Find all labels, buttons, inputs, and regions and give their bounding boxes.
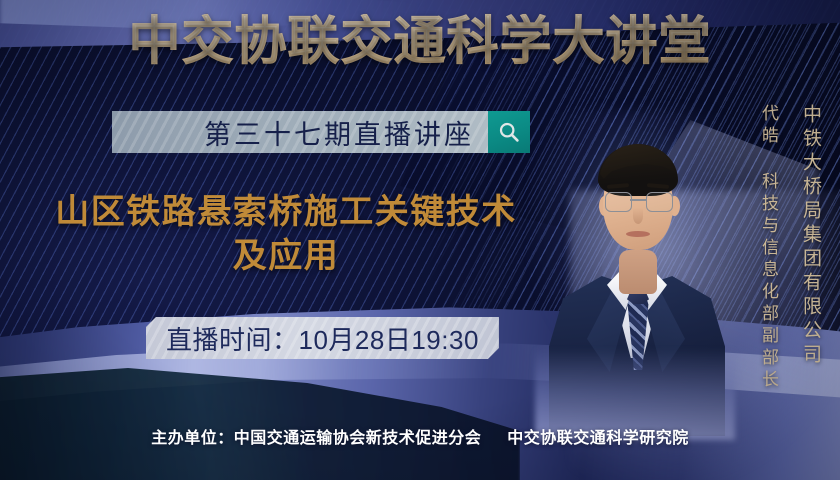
footer-organizer-1: 中国交通运输协会新技术促进分会 [234, 430, 482, 447]
portrait-mouth [626, 231, 650, 237]
headline-line-2: 及应用 [26, 234, 546, 278]
footer-organizer-label: 主办单位： [151, 430, 234, 447]
portrait-neck [619, 250, 657, 294]
episode-banner-body: 第三十七期直播讲座 [112, 111, 488, 153]
portrait-glasses-bridge [630, 199, 646, 201]
footer-organizers: 主办单位：中国交通运输协会新技术促进分会中交协联交通科学研究院 [0, 424, 840, 448]
speaker-info: 代皓 科技与信息化部副部长 中铁大桥局集团有限公司 [756, 104, 824, 392]
speaker-portrait [545, 104, 725, 434]
speaker-organization: 中铁大桥局集团有限公司 [797, 104, 824, 368]
lecture-headline: 山区铁路悬索桥施工关键技术 及应用 [26, 190, 546, 278]
speaker-name-and-role: 代皓 科技与信息化部副部长 [756, 104, 781, 392]
portrait-glasses-left-lens [605, 192, 632, 212]
broadcast-time-text: 直播时间：10月28日19:30 [166, 320, 479, 357]
portrait-glasses-right-lens [646, 192, 673, 212]
headline-line-1: 山区铁路悬索桥施工关键技术 [55, 193, 517, 231]
broadcast-time-badge: 直播时间：10月28日19:30 [146, 317, 499, 359]
live-broadcast-poster: 中交协联交通科学大讲堂 第三十七期直播讲座 山区铁路悬索桥施工关键技术 及应用 … [0, 0, 840, 480]
episode-banner: 第三十七期直播讲座 [112, 111, 530, 153]
footer-organizer-2: 中交协联交通科学研究院 [507, 430, 689, 447]
portrait-nose [633, 208, 643, 224]
search-icon[interactable] [488, 111, 530, 153]
main-title: 中交协联交通科学大讲堂 [0, 14, 840, 70]
episode-label: 第三十七期直播讲座 [204, 113, 474, 152]
